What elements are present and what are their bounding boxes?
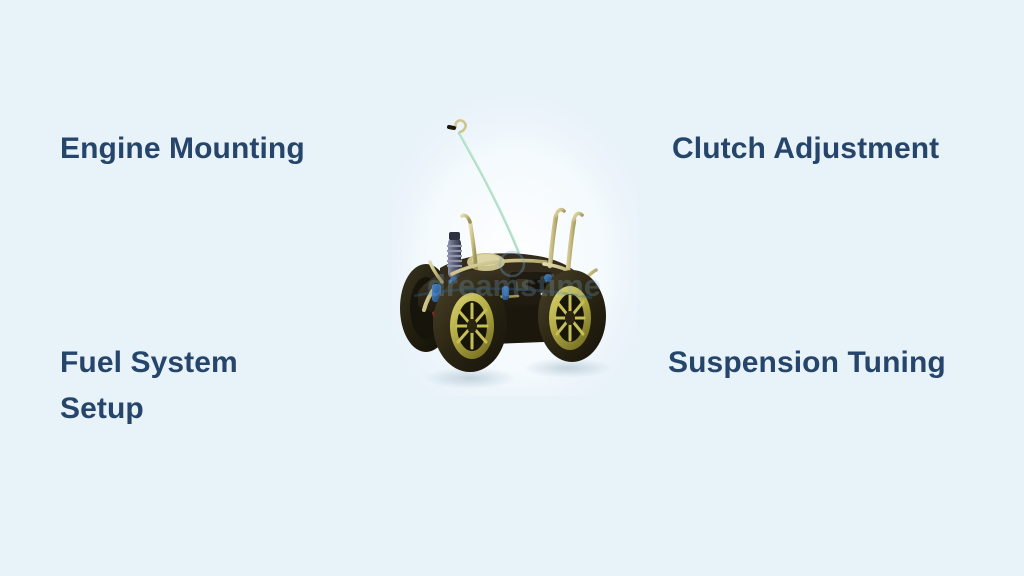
slide-canvas: Engine Mounting Clutch Adjustment Fuel S… <box>0 0 1024 576</box>
label-engine-mounting: Engine Mounting <box>60 126 360 172</box>
label-suspension-tuning: Suspension Tuning <box>668 340 988 386</box>
label-fuel-system-setup: Fuel System Setup <box>60 340 260 432</box>
watermark-text: dreamstime <box>427 268 601 303</box>
label-clutch-adjustment: Clutch Adjustment <box>672 126 992 172</box>
rc-car-chassis-photo: dreamstime <box>392 96 638 396</box>
